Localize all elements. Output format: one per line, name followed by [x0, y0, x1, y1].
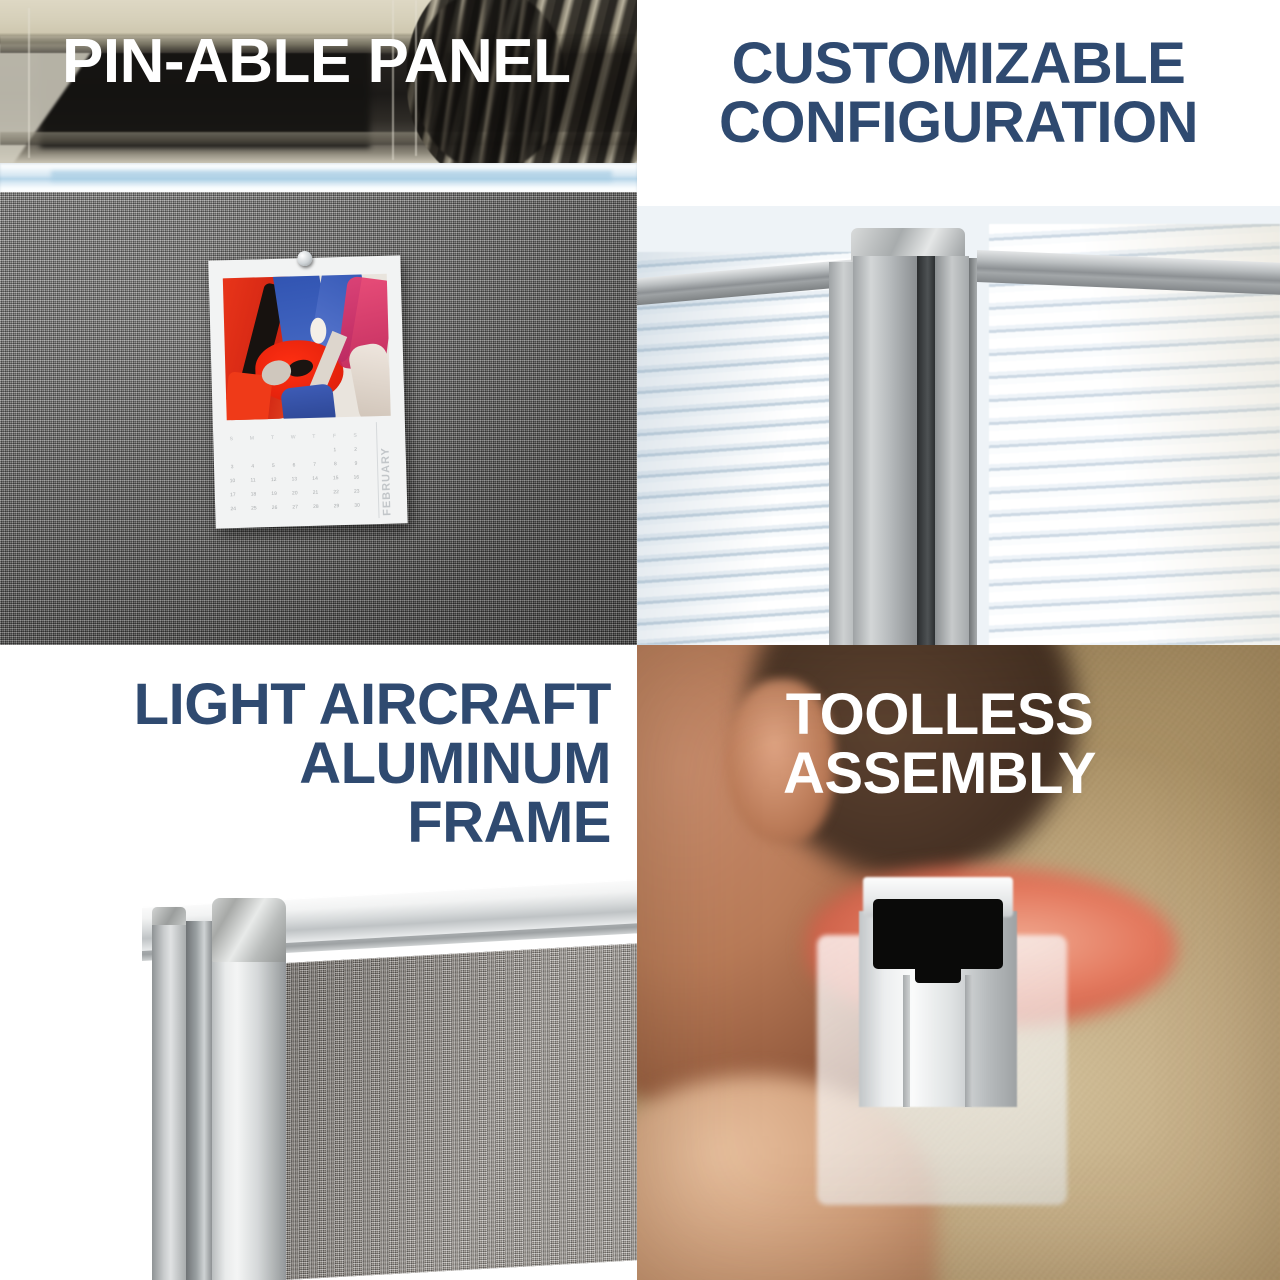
calendar-day: 20 [287, 486, 303, 500]
weekday-header: S [347, 428, 363, 442]
calendar-day: 3 [224, 460, 240, 474]
calendar-day: 2 [347, 442, 363, 456]
calendar-day: 16 [348, 470, 364, 484]
calendar-artwork [223, 274, 391, 421]
bottom-fade [0, 1210, 637, 1280]
quadrant-light-aircraft-aluminum-frame: LIGHT AIRCRAFT ALUMINUM FRAME [0, 645, 637, 1280]
calendar-week-row: 24 25 26 27 28 29 30 [225, 498, 365, 516]
calendar-day: 30 [349, 498, 365, 512]
calendar-day [265, 445, 281, 459]
calendar-day: 4 [245, 459, 261, 473]
calendar-day: 7 [306, 458, 322, 472]
calendar-day [285, 444, 301, 458]
post-edge-left [829, 262, 853, 645]
quadrant-customizable-configuration: CUSTOMIZABLE CONFIGURATION [637, 0, 1280, 645]
calendar-day: 26 [266, 501, 282, 515]
calendar-day: 22 [328, 485, 344, 499]
calendar-day: 6 [286, 458, 302, 472]
caption-light-aircraft-aluminum-frame: LIGHT AIRCRAFT ALUMINUM FRAME [21, 675, 611, 852]
caption-customizable-configuration: CUSTOMIZABLE CONFIGURATION [637, 34, 1280, 152]
post-edge-right [969, 258, 977, 645]
feature-collage: FEBRUARY S M T W T F S 1 [0, 0, 1280, 1280]
weekday-header: T [264, 431, 280, 445]
calendar-day: 8 [327, 457, 343, 471]
calendar-month-label: FEBRUARY [379, 423, 404, 516]
calendar-day: 14 [307, 472, 323, 486]
calendar-day: 5 [265, 459, 281, 473]
calendar-day: 10 [224, 474, 240, 488]
weekday-header: M [244, 431, 260, 445]
calendar-day: 28 [308, 500, 324, 514]
caption-toolless-assembly: TOOLLESS ASSEMBLY [637, 685, 1242, 803]
calendar-day: 15 [328, 471, 344, 485]
post-seam [917, 256, 935, 645]
caption-pin-able-panel: PIN-ABLE PANEL [62, 30, 622, 93]
calendar-day: 24 [225, 502, 241, 516]
quadrant-pin-able-panel: FEBRUARY S M T W T F S 1 [0, 0, 637, 645]
weekday-header: S [223, 432, 239, 446]
calendar-grid: S M T W T F S 1 2 3 [223, 428, 365, 516]
calendar-day: 23 [349, 484, 365, 498]
weekday-header: F [326, 429, 342, 443]
weekday-header: T [306, 430, 322, 444]
ceiling-wire [28, 8, 30, 158]
weekday-header: W [285, 430, 301, 444]
post-face-right [935, 256, 969, 645]
acrylic-panel-top-edge [0, 163, 637, 192]
push-pin-icon [297, 251, 312, 266]
calendar-day: 11 [245, 473, 261, 487]
calendar-day: 17 [225, 488, 241, 502]
calendar-day: 13 [286, 472, 302, 486]
calendar-day: 18 [245, 487, 261, 501]
partition-corner-photo [637, 206, 1280, 645]
calendar-day: 12 [266, 473, 282, 487]
calendar-day: 25 [246, 501, 262, 515]
calendar-day [223, 446, 239, 460]
calendar-day: 1 [327, 443, 343, 457]
calendar-day: 21 [307, 486, 323, 500]
calendar-day [244, 445, 260, 459]
calendar-day [306, 444, 322, 458]
calendar-day: 27 [287, 500, 303, 514]
pinned-calendar: FEBRUARY S M T W T F S 1 [208, 255, 407, 528]
aluminum-corner-cap [212, 898, 286, 962]
aluminum-post-secondary-cap [152, 907, 186, 925]
calendar-day: 19 [266, 487, 282, 501]
quadrant-toolless-assembly: TOOLLESS ASSEMBLY [637, 645, 1280, 1280]
calendar-day: 9 [348, 456, 364, 470]
post-face-left [853, 256, 917, 645]
calendar-day: 29 [328, 499, 344, 513]
